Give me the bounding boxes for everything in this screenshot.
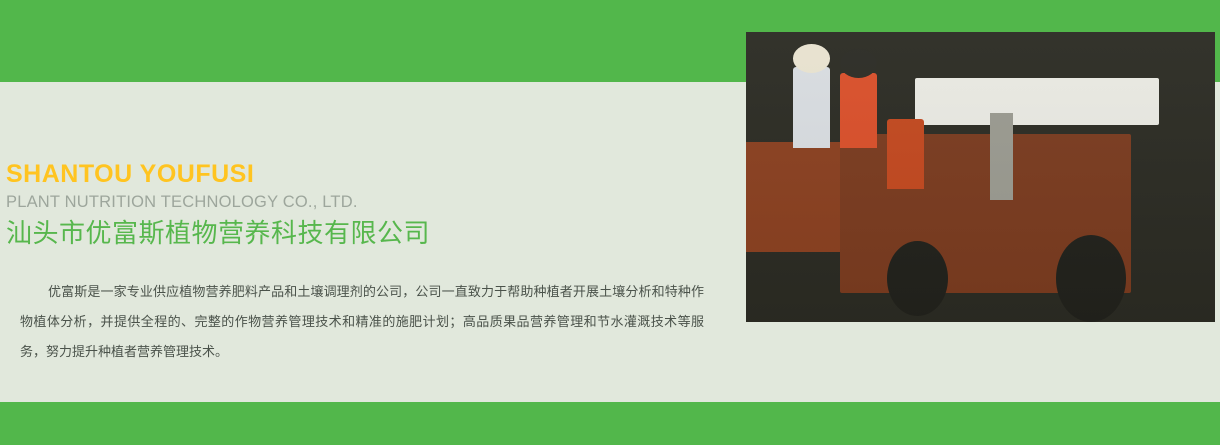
company-intro-paragraph: 优富斯是一家专业供应植物营养肥料产品和土壤调理剂的公司，公司一直致力于帮助种植者… [0, 278, 712, 368]
brand-tagline-en: PLANT NUTRITION TECHNOLOGY CO., LTD. [0, 192, 730, 213]
company-profile-page: SHANTOU YOUFUSI PLANT NUTRITION TECHNOLO… [0, 0, 1220, 445]
photo-color-grade [746, 32, 1215, 322]
brand-block: SHANTOU YOUFUSI PLANT NUTRITION TECHNOLO… [0, 160, 730, 252]
brand-name-cn: 汕头市优富斯植物营养科技有限公司 [0, 218, 730, 252]
hero-photo [746, 32, 1215, 322]
bottom-green-band [0, 402, 1220, 445]
brand-name-en: SHANTOU YOUFUSI [0, 160, 730, 189]
